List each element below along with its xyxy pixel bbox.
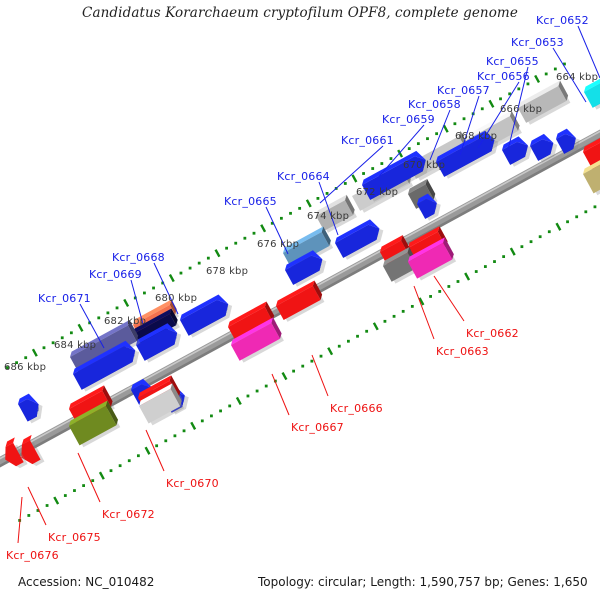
ruler-dot xyxy=(289,212,292,215)
ruler-dot xyxy=(180,272,183,275)
genome-map-viewer: Candidatus Korarchaeum cryptofilum OPF8,… xyxy=(0,0,600,600)
gene-label-kcr_0664[interactable]: Kcr_0664 xyxy=(277,170,330,183)
topology-text: Topology: circular; Length: 1,590,757 bp… xyxy=(258,575,588,589)
ruler-dot xyxy=(453,122,456,125)
ruler-dot xyxy=(384,320,387,323)
status-bar: Accession: NC_010482 Topology: circular;… xyxy=(0,575,600,593)
ruler-dot xyxy=(61,336,64,339)
ruler-dot xyxy=(110,469,113,472)
ruler-dot xyxy=(548,230,551,233)
ruler-dot xyxy=(137,454,140,457)
ruler-dot xyxy=(183,429,186,432)
gene-label-kcr_0670[interactable]: Kcr_0670 xyxy=(166,477,219,490)
gene-label-kcr_0666[interactable]: Kcr_0666 xyxy=(330,402,383,415)
ruler-dot xyxy=(463,117,466,120)
gene-label-kcr_0661[interactable]: Kcr_0661 xyxy=(341,134,394,147)
ruler-dot xyxy=(198,262,201,265)
ruler-tick-label: 686 kbp xyxy=(4,362,46,373)
ruler-dot xyxy=(164,439,167,442)
ruler-dot xyxy=(280,217,283,220)
ruler-tick-label: 664 kbp xyxy=(556,72,598,83)
gene-label-kcr_0671[interactable]: Kcr_0671 xyxy=(38,292,91,305)
ruler-dot xyxy=(520,245,523,248)
ruler-dot xyxy=(228,405,231,408)
ruler-dot xyxy=(517,87,520,90)
ruler-tick-label: 678 kbp xyxy=(206,266,248,277)
ruler-dot xyxy=(484,265,487,268)
ruler-dot xyxy=(97,316,100,319)
ruler-dot xyxy=(128,459,131,462)
ruler-dot xyxy=(225,247,228,250)
ruler-tick-label: 668 kbp xyxy=(455,131,497,142)
gene-label-kcr_0652[interactable]: Kcr_0652 xyxy=(536,14,589,27)
ruler-dot xyxy=(189,267,192,270)
ruler-major-tick xyxy=(216,250,220,257)
feature-blue-low-c[interactable] xyxy=(16,391,47,425)
ruler-dot xyxy=(143,292,146,295)
leader-line-kcr_0675 xyxy=(28,487,46,525)
ruler-dot xyxy=(371,167,374,170)
ruler-major-tick xyxy=(444,125,448,132)
ruler-dot xyxy=(70,331,73,334)
ruler-dot xyxy=(530,240,533,243)
ruler-major-tick xyxy=(489,100,493,107)
leader-line-kcr_0663 xyxy=(414,286,434,339)
ruler-dot xyxy=(234,242,237,245)
ruler-dot xyxy=(310,360,313,363)
ruler-major-tick xyxy=(191,422,195,429)
ruler-dot xyxy=(265,385,268,388)
ruler-major-tick xyxy=(307,200,311,207)
ruler-dot xyxy=(210,414,213,417)
ruler-dot xyxy=(317,197,320,200)
ruler-dot xyxy=(575,215,578,218)
ruler-dot xyxy=(247,395,250,398)
ruler-major-tick xyxy=(33,349,37,356)
ruler-major-tick xyxy=(283,373,287,380)
ruler-dot xyxy=(253,232,256,235)
leader-line-kcr_0667 xyxy=(272,374,289,415)
ruler-dot xyxy=(499,97,502,100)
leader-line-kcr_0672 xyxy=(78,453,100,502)
ruler-dot xyxy=(320,355,323,358)
ruler-dot xyxy=(73,489,76,492)
ruler-major-tick xyxy=(557,223,561,230)
ruler-dot xyxy=(362,172,365,175)
gene-label-kcr_0663[interactable]: Kcr_0663 xyxy=(436,345,489,358)
ruler-dot xyxy=(475,270,478,273)
gene-label-kcr_0659[interactable]: Kcr_0659 xyxy=(382,113,435,126)
ruler-major-tick xyxy=(54,497,58,504)
ruler-dot xyxy=(174,434,177,437)
ruler-dot xyxy=(243,237,246,240)
ruler-dot xyxy=(390,157,393,160)
ruler-dot xyxy=(24,356,27,359)
ruler-dot xyxy=(566,220,569,223)
gene-label-kcr_0662[interactable]: Kcr_0662 xyxy=(466,327,519,340)
gene-label-kcr_0656[interactable]: Kcr_0656 xyxy=(477,70,530,83)
ruler-dot xyxy=(426,137,429,140)
ruler-major-tick xyxy=(511,248,515,255)
gene-label-kcr_0675[interactable]: Kcr_0675 xyxy=(48,531,101,544)
ruler-tick-label: 674 kbp xyxy=(307,211,349,222)
gene-label-kcr_0658[interactable]: Kcr_0658 xyxy=(408,98,461,111)
ruler-tick-label: 670 kbp xyxy=(403,160,445,171)
leader-line-kcr_0662 xyxy=(434,276,464,321)
ruler-major-tick xyxy=(353,175,357,182)
gene-label-kcr_0676[interactable]: Kcr_0676 xyxy=(6,549,59,562)
ruler-dot xyxy=(393,315,396,318)
ruler-dot xyxy=(457,280,460,283)
ruler-dot xyxy=(554,68,557,71)
ruler-dot xyxy=(594,205,597,208)
ruler-dot xyxy=(106,311,109,314)
ruler-major-tick xyxy=(79,324,83,331)
features-forward-strand xyxy=(68,75,600,393)
ruler-dot xyxy=(493,260,496,263)
ruler-dot xyxy=(539,235,542,238)
ruler-dot xyxy=(481,107,484,110)
ruler-dot xyxy=(402,310,405,313)
ruler-major-tick xyxy=(100,472,104,479)
ruler-dot xyxy=(43,346,46,349)
ruler-dot xyxy=(207,257,210,260)
gene-label-kcr_0672[interactable]: Kcr_0672 xyxy=(102,508,155,521)
ruler-dot xyxy=(292,370,295,373)
ruler-major-tick xyxy=(535,75,539,82)
gene-label-kcr_0657[interactable]: Kcr_0657 xyxy=(437,84,490,97)
ruler-dot xyxy=(447,285,450,288)
ruler-dot xyxy=(545,73,548,76)
ruler-dot xyxy=(408,147,411,150)
ruler-dot xyxy=(429,295,432,298)
ruler-dot xyxy=(82,484,85,487)
gene-label-kcr_0667[interactable]: Kcr_0667 xyxy=(291,421,344,434)
ruler-major-tick xyxy=(465,273,469,280)
ruler-major-tick xyxy=(146,447,150,454)
gene-label-kcr_0668[interactable]: Kcr_0668 xyxy=(112,251,165,264)
ruler-dot xyxy=(46,504,49,507)
leader-line-kcr_0666 xyxy=(312,355,328,396)
ruler-dot xyxy=(347,340,350,343)
ruler-dot xyxy=(338,345,341,348)
ruler-tick-label: 666 kbp xyxy=(500,104,542,115)
ruler-tick-label: 680 kbp xyxy=(155,293,197,304)
ruler-dot xyxy=(584,210,587,213)
gene-label-kcr_0669[interactable]: Kcr_0669 xyxy=(89,268,142,281)
ruler-dot xyxy=(435,132,438,135)
ruler-tick-label: 682 kbp xyxy=(104,316,146,327)
ruler-dot xyxy=(152,287,155,290)
ruler-dot xyxy=(326,192,329,195)
ruler-dot xyxy=(502,255,505,258)
ruler-dot xyxy=(91,479,94,482)
ruler-dot xyxy=(417,142,420,145)
ruler-dot xyxy=(119,464,122,467)
ruler-dot xyxy=(155,444,158,447)
ruler-dot xyxy=(411,305,414,308)
ruler-dot xyxy=(356,335,359,338)
ruler-tick-label: 676 kbp xyxy=(257,239,299,250)
ruler-tick-label: 684 kbp xyxy=(54,340,96,351)
leader-line-kcr_0652 xyxy=(578,26,600,78)
ruler-tick-label: 672 kbp xyxy=(356,187,398,198)
ruler-major-tick xyxy=(374,323,378,330)
ruler-major-tick xyxy=(328,348,332,355)
ruler-major-tick xyxy=(237,397,241,404)
ruler-dot xyxy=(298,207,301,210)
gene-label-kcr_0655[interactable]: Kcr_0655 xyxy=(486,55,539,68)
gene-label-kcr_0665[interactable]: Kcr_0665 xyxy=(224,195,277,208)
ruler-dot xyxy=(344,182,347,185)
ruler-dot xyxy=(201,419,204,422)
ruler-dot xyxy=(256,390,259,393)
ruler-dot xyxy=(301,365,304,368)
ruler-dot xyxy=(380,162,383,165)
gene-label-kcr_0653[interactable]: Kcr_0653 xyxy=(511,36,564,49)
ruler-major-tick xyxy=(124,299,128,306)
accession-text: Accession: NC_010482 xyxy=(18,575,154,589)
ruler-dot xyxy=(116,307,119,310)
ruler-dot xyxy=(219,410,222,413)
ruler-dot xyxy=(365,330,368,333)
ruler-dot xyxy=(438,290,441,293)
ruler-dot xyxy=(64,494,67,497)
ruler-major-tick xyxy=(170,275,174,282)
ruler-major-tick xyxy=(261,225,265,232)
ruler-dot xyxy=(27,514,30,517)
